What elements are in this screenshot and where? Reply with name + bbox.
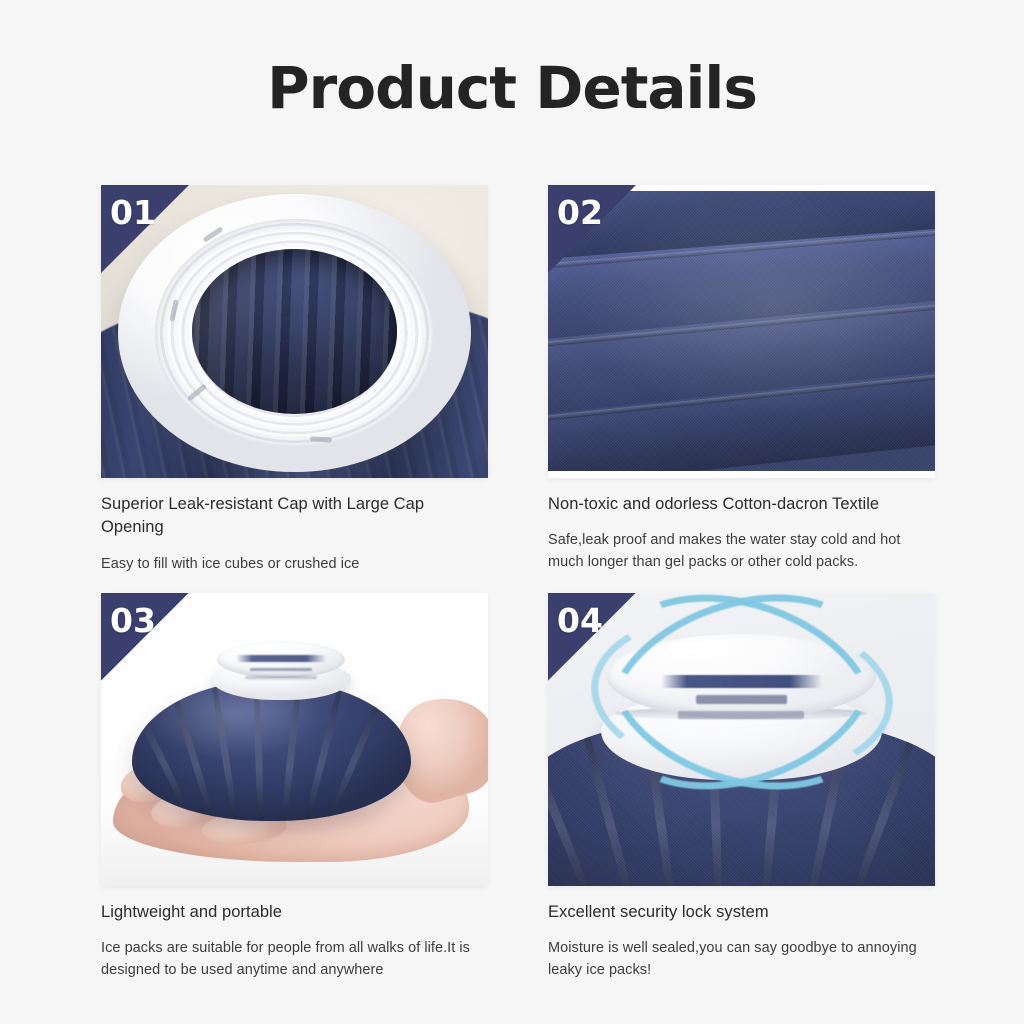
badge-number: 01 [110, 193, 156, 232]
feature-desc-03: Ice packs are suitable for people from a… [101, 938, 488, 982]
feature-desc-02: Safe,leak proof and makes the water stay… [548, 530, 935, 574]
feature-image-04: 04 [548, 593, 935, 886]
feature-title-03: Lightweight and portable [101, 901, 488, 924]
ice-bag-cap [211, 641, 350, 700]
card-badge-03: 03 [101, 593, 189, 681]
feature-card-02: 02 Non-toxic and odorless Cotton-dacron … [548, 185, 935, 576]
cap-notch [310, 436, 332, 442]
feature-title-02: Non-toxic and odorless Cotton-dacron Tex… [548, 493, 935, 516]
card-badge-04: 04 [548, 593, 636, 681]
feature-image-01: 01 [101, 185, 488, 478]
badge-number: 02 [557, 193, 603, 232]
feature-title-04: Excellent security lock system [548, 901, 935, 924]
feature-card-01: 01 Superior Leak-resistant Cap with Larg… [101, 185, 488, 576]
card-badge-01: 01 [101, 185, 189, 273]
badge-number: 03 [110, 601, 156, 640]
cap-brand-logo [236, 655, 325, 662]
feature-title-01: Superior Leak-resistant Cap with Large C… [101, 493, 488, 540]
cap-opening-mouth [192, 249, 397, 413]
bag-highlight [132, 680, 411, 821]
page-title: Product Details [0, 54, 1024, 122]
badge-number: 04 [557, 601, 603, 640]
feature-image-03: 03 [101, 593, 488, 886]
cap-label-line [245, 676, 317, 679]
feature-image-02: 02 [548, 185, 935, 478]
feature-card-grid: 01 Superior Leak-resistant Cap with Larg… [101, 185, 935, 982]
feature-desc-01: Easy to fill with ice cubes or crushed i… [101, 554, 488, 576]
product-details-page: Product Details 01 S [0, 0, 1024, 1024]
feature-card-04: 04 Excellent security lock system Moistu… [548, 593, 935, 982]
feature-card-03: 03 Lightweight and portable Ice packs ar… [101, 593, 488, 982]
card-badge-02: 02 [548, 185, 636, 273]
ice-bag-body [132, 680, 411, 821]
cap-label-line [250, 668, 311, 672]
feature-desc-04: Moisture is well sealed,you can say good… [548, 938, 935, 982]
